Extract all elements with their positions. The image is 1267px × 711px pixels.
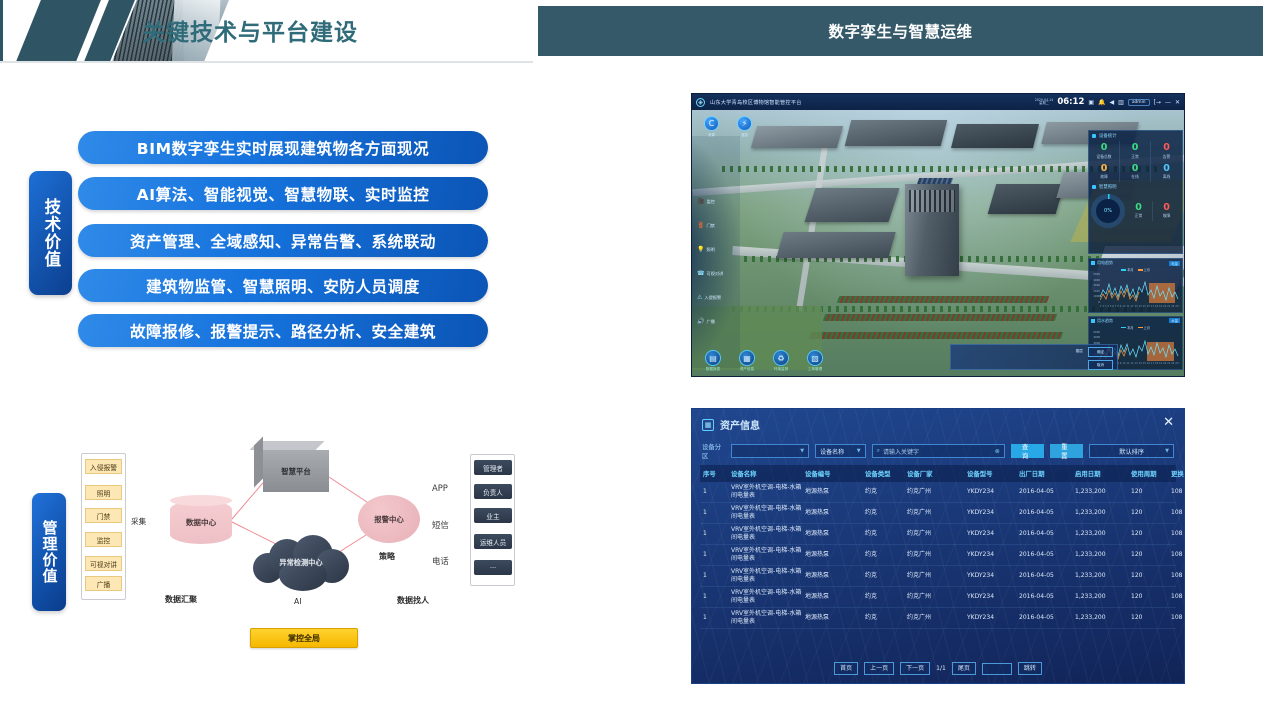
bulb-icon: 💡 xyxy=(697,246,704,253)
bottom-button-ticket-label: 工单管理 xyxy=(806,367,824,372)
source-chip-intrusion-alarm[interactable]: 入侵报警 xyxy=(85,459,122,474)
section-marker-icon xyxy=(1091,261,1095,265)
target-chip-3-label: 业主 xyxy=(486,511,499,521)
device-stats-panel: 设备统计 0 设备总数 0 正常 0 告警 xyxy=(1088,130,1183,254)
y-tick: 4000 xyxy=(1090,279,1100,282)
quick-toggle-panorama[interactable]: C 全景 xyxy=(704,116,719,137)
table-row[interactable]: 1VRV室外机空调-电梯-水箱间电量表地源热泵约克约克广州YKDY2342016… xyxy=(700,503,1176,524)
table-cell: VRV室外机空调-电梯-水箱间电量表 xyxy=(728,566,802,586)
stat-device-total-label: 设备总数 xyxy=(1089,154,1119,160)
campus-3d-scene[interactable]: C 全景 ⚡ 漫游 🎥 监控 🚪 门禁 💡 xyxy=(692,110,1185,377)
legend-entry-current-month: 本月 xyxy=(1121,325,1133,330)
source-chip-5-label: 可视对讲 xyxy=(90,559,117,569)
titlebar-right-group: 2020-04-14 星期二 06:12 ▣ 🔔 ◀ ▥ admin [→ — … xyxy=(1035,97,1184,107)
table-cell: YKDY234 xyxy=(964,524,1016,544)
target-chip-manager[interactable]: 负责人 xyxy=(474,484,512,499)
device-stats-grid-row1: 0 设备总数 0 正常 0 告警 xyxy=(1089,141,1182,162)
target-chip-owner[interactable]: 业主 xyxy=(474,508,512,523)
scene-building-6 xyxy=(988,184,1065,214)
node-smart-platform-label: 智慧平台 xyxy=(281,466,311,477)
sort-select-value: 默认排序 xyxy=(1119,447,1144,456)
table-cell: 1 xyxy=(700,503,728,523)
sort-select[interactable]: 默认排序 ▼ xyxy=(1089,444,1174,458)
scene-building-2 xyxy=(845,120,947,146)
y-tick: 5000 xyxy=(1090,273,1100,276)
ticket-icon: ▧ xyxy=(807,350,823,366)
table-cell: 地源热泵 xyxy=(802,482,862,502)
asset-search-input[interactable]: ⌕ 请输入关键字 ⊗ xyxy=(872,444,1005,458)
table-cell: 约克广州 xyxy=(904,524,964,544)
mgmt-value-badge-label: 管理价值 xyxy=(41,520,58,584)
stat-lighting-normal-label: 正常 xyxy=(1125,213,1152,219)
intercom-icon: ☎ xyxy=(697,270,704,277)
scene-road-vertical xyxy=(796,133,830,312)
label-data-push: 数据找人 xyxy=(397,595,429,606)
electricity-chart-title: 用电趋势 xyxy=(1097,260,1113,266)
table-cell: 1 xyxy=(700,608,728,628)
table-cell: 1 xyxy=(700,545,728,565)
table-cell: 约克 xyxy=(862,503,904,523)
water-chart-title: 用水趋势 xyxy=(1097,318,1113,324)
stat-online-value: 0 xyxy=(1120,164,1150,174)
asset-table-header: 序号 设备名称 设备编号 设备类型 设备厂家 设备型号 出厂日期 启用日期 使用… xyxy=(700,465,1176,482)
tech-value-item-2-label: AI算法、智能视觉、智慧物联、实时监控 xyxy=(137,183,430,205)
table-cell: 约克广州 xyxy=(904,503,964,523)
electricity-chart-tag[interactable]: 电量 xyxy=(1169,261,1180,266)
chevron-down-icon: ▼ xyxy=(800,448,804,454)
bottom-button-asset[interactable]: ▦ 资产信息 xyxy=(738,350,756,372)
target-chip-5-label: ··· xyxy=(490,564,496,572)
electricity-chart-y-axis: 5000 4000 3000 2000 1000 0 xyxy=(1090,273,1100,304)
control-everything-button[interactable]: 掌控全局 xyxy=(250,628,358,648)
device-stats-header: 设备统计 xyxy=(1089,131,1182,141)
stat-lighting-fault-label: 故障 xyxy=(1153,213,1180,219)
node-smart-platform: 智慧平台 xyxy=(263,450,329,492)
roam-icon: ⚡ xyxy=(737,116,752,131)
bottom-button-ticket[interactable]: ▧ 工单管理 xyxy=(806,350,824,372)
stat-lighting-fault-value: 0 xyxy=(1153,203,1180,213)
y-tick: 2000 xyxy=(1090,290,1100,293)
table-cell: 约克广州 xyxy=(904,608,964,628)
table-cell: VRV室外机空调-电梯-水箱间电量表 xyxy=(728,608,802,628)
device-stats-title: 设备统计 xyxy=(1099,133,1117,139)
table-cell: 地源热泵 xyxy=(802,524,862,544)
table-cell: 108 xyxy=(1168,503,1185,523)
nav-item-access-control-label: 门禁 xyxy=(706,223,714,229)
scene-hedge-3 xyxy=(809,332,1064,339)
video-icon: 🎥 xyxy=(697,198,704,205)
nav-item-video-intercom-label: 可视对讲 xyxy=(706,271,723,277)
quick-toggle-roam[interactable]: ⚡ 漫游 xyxy=(737,116,752,137)
nav-item-intrusion-alarm[interactable]: ⚠ 入侵报警 xyxy=(697,292,739,303)
lighting-usage-gauge: 0% xyxy=(1091,194,1125,228)
legend-label-last-month: 上月 xyxy=(1144,326,1150,330)
column-header-production-date: 出厂日期 xyxy=(1016,465,1072,482)
pager-jump-button[interactable]: 跳转 xyxy=(1018,662,1042,675)
scene-building-5 xyxy=(804,188,899,222)
node-anomaly-detection: 异常检测中心 xyxy=(253,535,349,591)
tech-value-badge: 技术价值 xyxy=(29,171,72,295)
nav-item-intrusion-alarm-label: 入侵报警 xyxy=(704,295,721,301)
label-collect: 采集 xyxy=(131,516,146,527)
label-channel-app: APP xyxy=(432,483,448,493)
electricity-trend-chart: 用电趋势 电量 本月 上月 5000 4000 3000 2000 1000 0 xyxy=(1088,258,1183,313)
nav-item-broadcast[interactable]: 🔊 广播 xyxy=(697,316,739,327)
stat-lighting-normal: 0 正常 xyxy=(1125,201,1153,222)
panorama-icon: C xyxy=(704,116,719,131)
legend-label-last-month: 上月 xyxy=(1144,268,1150,272)
query-button[interactable]: 查询 xyxy=(1011,444,1044,458)
floor-dialog-row2: 取消 xyxy=(951,358,1117,371)
table-row[interactable]: 1VRV室外机空调-电梯-水箱间电量表地源热泵约克约克广州YKDY2342016… xyxy=(700,482,1176,503)
table-cell: 1,233,200 xyxy=(1072,566,1128,586)
table-cell: 约克广州 xyxy=(904,587,964,607)
table-cell: YKDY234 xyxy=(964,608,1016,628)
table-cell: 约克广州 xyxy=(904,566,964,586)
dashboard-date: 2020-04-14 星期二 xyxy=(1035,99,1054,106)
source-chip-lighting[interactable]: 照明 xyxy=(85,485,122,500)
table-cell: 108 xyxy=(1168,545,1185,565)
table-cell: 地源热泵 xyxy=(802,608,862,628)
column-header-replacement-cycle: 更换周期 xyxy=(1168,465,1185,482)
legend-entry-last-month: 上月 xyxy=(1138,325,1150,330)
volume-icon[interactable]: ◀ xyxy=(1110,99,1115,106)
table-row[interactable]: 1VRV室外机空调-电梯-水箱间电量表地源热泵约克约克广州YKDY2342016… xyxy=(700,566,1176,587)
source-chip-broadcast[interactable]: 广播 xyxy=(85,576,122,591)
column-header-manufacturer: 设备厂家 xyxy=(904,465,964,482)
stat-normal-label: 正常 xyxy=(1120,154,1150,160)
dashboard-bottom-toolbar: ▤ 数据报表 ▦ 资产信息 ♻ 环境监测 ▧ 工单管理 xyxy=(704,350,824,372)
table-cell: 约克 xyxy=(862,482,904,502)
mgmt-value-badge: 管理价值 xyxy=(32,493,66,611)
section-marker-icon xyxy=(1091,319,1095,323)
stat-offline: 0 离线 xyxy=(1151,162,1182,183)
table-cell: VRV室外机空调-电梯-水箱间电量表 xyxy=(728,545,802,565)
table-cell: VRV室外机空调-电梯-水箱间电量表 xyxy=(728,524,802,544)
label-strategy: 策略 xyxy=(379,551,395,562)
node-alarm-center-label: 报警中心 xyxy=(374,514,404,525)
asset-window-title: 资产信息 xyxy=(720,417,760,432)
node-data-center: 数据中心 xyxy=(170,500,232,544)
source-chip-3-label: 门禁 xyxy=(97,511,111,521)
control-everything-label: 掌控全局 xyxy=(288,633,320,644)
node-data-center-label: 数据中心 xyxy=(186,517,216,528)
device-name-select-value: 设备名称 xyxy=(820,447,844,456)
user-badge[interactable]: admin xyxy=(1128,99,1150,106)
device-name-select[interactable]: 设备名称 ▼ xyxy=(815,444,865,458)
stat-offline-value: 0 xyxy=(1151,164,1182,174)
section-marker-icon xyxy=(1092,185,1096,189)
tech-value-badge-label: 技术价值 xyxy=(41,198,60,268)
asset-window-header: ▦ 资产信息 xyxy=(702,417,760,432)
table-cell: 108 xyxy=(1168,566,1185,586)
stat-lighting-fault: 0 故障 xyxy=(1153,201,1180,222)
table-cell: 地源热泵 xyxy=(802,566,862,586)
smart-lighting-header: 智慧照明 xyxy=(1089,182,1182,192)
table-cell: 2016-04-05 xyxy=(1016,608,1072,628)
y-tick: 0 xyxy=(1090,301,1100,304)
label-channel-phone: 电话 xyxy=(432,555,449,567)
stat-alarm-value: 0 xyxy=(1151,143,1182,153)
header-right-band: 数字孪生与智慧运维 xyxy=(538,6,1263,56)
table-cell: VRV室外机空调-电梯-水箱间电量表 xyxy=(728,587,802,607)
table-cell: 108 xyxy=(1168,524,1185,544)
y-tick: 5000 xyxy=(1090,331,1100,334)
device-stats-grid-row2: 0 故障 0 在线 0 离线 xyxy=(1089,162,1182,183)
floor-dialog-label: 楼层 xyxy=(1076,349,1083,354)
scene-building-3 xyxy=(951,124,1039,148)
zone-select[interactable]: ▼ xyxy=(731,444,810,458)
table-cell: VRV室外机空调-电梯-水箱间电量表 xyxy=(728,482,802,502)
close-icon[interactable]: ✕ xyxy=(1175,99,1180,106)
target-chip-ops-staff[interactable]: 运维人员 xyxy=(474,534,512,549)
table-cell: 约克 xyxy=(862,587,904,607)
door-icon: 🚪 xyxy=(697,222,704,229)
table-cell: 1 xyxy=(700,587,728,607)
header-divider xyxy=(0,61,533,63)
table-cell: 120 xyxy=(1128,608,1168,628)
target-chip-administrator[interactable]: 管理者 xyxy=(474,460,512,475)
table-cell: 1,233,200 xyxy=(1072,545,1128,565)
stat-device-total: 0 设备总数 xyxy=(1089,141,1120,162)
table-cell: VRV室外机空调-电梯-水箱间电量表 xyxy=(728,503,802,523)
asset-search-placeholder: 请输入关键字 xyxy=(883,447,919,456)
target-chip-4-label: 运维人员 xyxy=(480,537,506,547)
alarm-icon: ⚠ xyxy=(697,294,702,301)
bottom-button-environment[interactable]: ♻ 环境监测 xyxy=(772,350,790,372)
table-row[interactable]: 1VRV室外机空调-电梯-水箱间电量表地源热泵约克约克广州YKDY2342016… xyxy=(700,524,1176,545)
asset-icon: ▦ xyxy=(702,419,714,431)
tech-value-item-4-label: 建筑物监管、智慧照明、安防人员调度 xyxy=(146,275,420,297)
source-chip-2-label: 照明 xyxy=(97,488,111,498)
tech-value-item-3[interactable]: 资产管理、全域感知、异常告警、系统联动 xyxy=(78,224,488,257)
column-header-device-code: 设备编号 xyxy=(802,465,862,482)
table-cell: YKDY234 xyxy=(964,482,1016,502)
lighting-usage-gauge-value: 0% xyxy=(1104,208,1112,214)
column-header-device-name: 设备名称 xyxy=(728,465,802,482)
chevron-down-icon: ▼ xyxy=(1165,448,1169,454)
tech-value-item-1-label: BIM数字孪生实时展现建筑物各方面现况 xyxy=(137,137,429,159)
app-logo-icon: ◈ xyxy=(696,98,705,107)
nav-item-surveillance[interactable]: 🎥 监控 xyxy=(697,196,739,207)
stat-offline-label: 离线 xyxy=(1151,174,1182,180)
slide-root: 关键技术与平台建设 数字孪生与智慧运维 技术价值 BIM数字孪生实时展现建筑物各… xyxy=(0,0,1267,711)
table-cell: 120 xyxy=(1128,545,1168,565)
column-header-device-type: 设备类型 xyxy=(862,465,904,482)
chevron-down-icon: ▼ xyxy=(857,448,861,454)
dashboard-date-line2: 星期二 xyxy=(1035,102,1054,105)
y-tick: 4000 xyxy=(1090,336,1100,339)
bottom-button-asset-label: 资产信息 xyxy=(738,367,756,372)
label-ai: AI xyxy=(294,597,301,606)
table-cell: 地源热泵 xyxy=(802,503,862,523)
speaker-icon: 🔊 xyxy=(697,318,704,325)
target-chip-more[interactable]: ··· xyxy=(474,560,512,575)
nav-item-lighting-label: 照明 xyxy=(706,247,714,253)
scene-museum-tower xyxy=(905,184,959,276)
source-chip-surveillance[interactable]: 监控 xyxy=(85,532,122,547)
table-cell: YKDY234 xyxy=(964,545,1016,565)
env-icon: ♻ xyxy=(773,350,789,366)
source-chip-4-label: 监控 xyxy=(97,535,111,545)
tech-value-item-1[interactable]: BIM数字孪生实时展现建筑物各方面现况 xyxy=(78,131,488,164)
electricity-chart-legend: 本月 上月 xyxy=(1089,267,1182,272)
table-row[interactable]: 1VRV室外机空调-电梯-水箱间电量表地源热泵约克约克广州YKDY2342016… xyxy=(700,587,1176,608)
source-chip-access-control[interactable]: 门禁 xyxy=(85,508,122,523)
legend-entry-last-month: 上月 xyxy=(1138,267,1150,272)
target-chip-2-label: 负责人 xyxy=(483,487,503,497)
asset-filter-bar: 设备分区 ▼ 设备名称 ▼ ⌕ 请输入关键字 ⊗ 查询 重置 默认排序 ▼ xyxy=(702,442,1174,460)
label-data-aggregate: 数据汇聚 xyxy=(165,594,197,605)
asset-info-window: ▦ 资产信息 ✕ 设备分区 ▼ 设备名称 ▼ ⌕ 请输入关键字 ⊗ 查询 重置 … xyxy=(691,408,1185,684)
pager-first-button[interactable]: 首页 xyxy=(834,662,858,675)
label-channel-sms: 短信 xyxy=(432,519,449,531)
nav-item-broadcast-label: 广播 xyxy=(706,319,714,325)
nav-item-video-intercom[interactable]: ☎ 可视对讲 xyxy=(697,268,739,279)
stat-alarm-label: 告警 xyxy=(1151,154,1182,160)
source-chip-1-label: 入侵报警 xyxy=(90,462,117,472)
table-cell: 约克 xyxy=(862,545,904,565)
nav-item-access-control[interactable]: 🚪 门禁 xyxy=(697,220,739,231)
clear-input-icon[interactable]: ⊗ xyxy=(995,448,1000,455)
bell-icon[interactable]: 🔔 xyxy=(1098,99,1105,106)
table-cell: YKDY234 xyxy=(964,503,1016,523)
table-cell: 1,233,200 xyxy=(1072,503,1128,523)
report-icon: ▤ xyxy=(705,350,721,366)
electricity-chart-plot xyxy=(1100,275,1180,305)
tech-value-item-2[interactable]: AI算法、智能视觉、智慧物联、实时监控 xyxy=(78,177,488,210)
asset-pagination: 首页 上一页 下一页 1/1 尾页 跳转 xyxy=(692,662,1184,675)
floor-dialog-row1: 楼层 确定 xyxy=(951,345,1117,358)
scene-floor-dialog: 楼层 确定 取消 xyxy=(950,344,1118,370)
table-cell: 120 xyxy=(1128,587,1168,607)
table-cell: 108 xyxy=(1168,482,1185,502)
table-cell: 1,233,200 xyxy=(1072,587,1128,607)
table-cell: 120 xyxy=(1128,566,1168,586)
column-header-activation-date: 启用日期 xyxy=(1072,465,1128,482)
water-chart-header: 用水趋势 水量 xyxy=(1089,317,1182,325)
table-row[interactable]: 1VRV室外机空调-电梯-水箱间电量表地源热泵约克约克广州YKDY2342016… xyxy=(700,545,1176,566)
pager-prev-button[interactable]: 上一页 xyxy=(864,662,894,675)
node-anomaly-detection-label: 异常检测中心 xyxy=(279,558,322,568)
table-cell: 2016-04-05 xyxy=(1016,566,1072,586)
table-row[interactable]: 1VRV室外机空调-电梯-水箱间电量表地源热泵约克约克广州YKDY2342016… xyxy=(700,608,1176,629)
stat-fault-label: 故障 xyxy=(1089,174,1119,180)
bottom-button-environment-label: 环境监测 xyxy=(772,367,790,372)
table-cell: 约克广州 xyxy=(904,482,964,502)
table-cell: 约克广州 xyxy=(904,545,964,565)
smart-lighting-title: 智慧照明 xyxy=(1099,184,1117,190)
table-cell: 地源热泵 xyxy=(802,545,862,565)
zone-filter-label: 设备分区 xyxy=(702,442,725,460)
tech-value-item-5-label: 故障报修、报警提示、路径分析、安全建筑 xyxy=(130,320,436,342)
section-marker-icon xyxy=(1092,134,1096,138)
column-header-model: 设备型号 xyxy=(964,465,1016,482)
column-header-index: 序号 xyxy=(700,465,728,482)
source-chip-video-intercom[interactable]: 可视对讲 xyxy=(85,556,122,571)
logout-icon[interactable]: [→ xyxy=(1154,99,1161,106)
stat-fault-value: 0 xyxy=(1089,164,1119,174)
tech-value-item-3-label: 资产管理、全域感知、异常告警、系统联动 xyxy=(130,230,436,252)
asset-table-body: 1VRV室外机空调-电梯-水箱间电量表地源热泵约克约克广州YKDY2342016… xyxy=(700,482,1176,629)
water-chart-tag[interactable]: 水量 xyxy=(1169,318,1180,323)
table-cell: 1,233,200 xyxy=(1072,524,1128,544)
stat-device-total-value: 0 xyxy=(1089,143,1119,153)
table-cell: YKDY234 xyxy=(964,587,1016,607)
dashboard-window-title: 山东大学青岛校区博物馆智能管控平台 xyxy=(710,99,802,106)
table-cell: 2016-04-05 xyxy=(1016,482,1072,502)
stat-lighting-normal-value: 0 xyxy=(1125,203,1152,213)
floor-dialog-cancel-button[interactable]: 取消 xyxy=(1088,360,1113,370)
table-cell: 约克 xyxy=(862,566,904,586)
electricity-chart-x-axis: 1 2 3 4 5 6 7 8 9 10 11 12 13 14 15 16 1… xyxy=(1100,304,1180,312)
table-cell: 1,233,200 xyxy=(1072,608,1128,628)
reset-button[interactable]: 重置 xyxy=(1050,444,1083,458)
stat-online: 0 在线 xyxy=(1120,162,1151,183)
scene-building-8 xyxy=(776,232,895,258)
electricity-chart-header: 用电趋势 电量 xyxy=(1089,259,1182,267)
table-cell: 108 xyxy=(1168,587,1185,607)
stat-fault: 0 故障 xyxy=(1089,162,1120,183)
tech-value-item-4[interactable]: 建筑物监管、智慧照明、安防人员调度 xyxy=(78,269,488,302)
table-cell: 2016-04-05 xyxy=(1016,524,1072,544)
table-cell: 120 xyxy=(1128,482,1168,502)
bottom-button-report[interactable]: ▤ 数据报表 xyxy=(704,350,722,372)
close-icon[interactable]: ✕ xyxy=(1163,415,1174,430)
tech-value-item-5[interactable]: 故障报修、报警提示、路径分析、安全建筑 xyxy=(78,314,488,347)
table-cell: 108 xyxy=(1168,608,1185,628)
asset-table: 序号 设备名称 设备编号 设备类型 设备厂家 设备型号 出厂日期 启用日期 使用… xyxy=(700,465,1176,629)
table-cell: 2016-04-05 xyxy=(1016,545,1072,565)
y-tick: 3000 xyxy=(1090,284,1100,287)
table-cell: 约克 xyxy=(862,524,904,544)
header-left-accent-rule xyxy=(0,0,3,63)
table-cell: 120 xyxy=(1128,503,1168,523)
stat-online-label: 在线 xyxy=(1120,174,1150,180)
table-cell: 2016-04-05 xyxy=(1016,503,1072,523)
dashboard-titlebar: ◈ 山东大学青岛校区博物馆智能管控平台 2020-04-14 星期二 06:12… xyxy=(692,94,1184,110)
table-cell: 地源热泵 xyxy=(802,587,862,607)
page-title: 关键技术与平台建设 xyxy=(142,13,358,47)
table-cell: 1 xyxy=(700,482,728,502)
pager-last-button[interactable]: 尾页 xyxy=(952,662,976,675)
pager-next-button[interactable]: 下一页 xyxy=(900,662,930,675)
chart-icon[interactable]: ▥ xyxy=(1118,99,1124,106)
asset-icon: ▦ xyxy=(739,350,755,366)
node-alarm-center: 报警中心 xyxy=(358,495,420,543)
table-cell: 120 xyxy=(1128,524,1168,544)
search-icon: ⌕ xyxy=(877,447,880,455)
legend-label-current-month: 本月 xyxy=(1127,268,1133,272)
screen-icon[interactable]: ▣ xyxy=(1088,99,1094,106)
table-cell: YKDY234 xyxy=(964,566,1016,586)
table-cell: 2016-04-05 xyxy=(1016,587,1072,607)
scene-building-1 xyxy=(751,126,843,148)
pager-jump-input[interactable] xyxy=(982,663,1012,675)
nav-item-lighting[interactable]: 💡 照明 xyxy=(697,244,739,255)
scene-hedge-1 xyxy=(837,296,1050,303)
target-chip-1-label: 管理者 xyxy=(483,463,503,473)
digital-twin-dashboard: ◈ 山东大学青岛校区博物馆智能管控平台 2020-04-14 星期二 06:12… xyxy=(691,93,1185,377)
scene-quick-toggles: C 全景 ⚡ 漫游 xyxy=(704,116,752,137)
floor-dialog-confirm-button[interactable]: 确定 xyxy=(1088,347,1113,357)
legend-entry-current-month: 本月 xyxy=(1121,267,1133,272)
dashboard-clock: 06:12 xyxy=(1057,97,1084,107)
section-title: 数字孪生与智慧运维 xyxy=(828,20,972,42)
minimize-icon[interactable]: — xyxy=(1165,99,1171,106)
table-cell: 1 xyxy=(700,566,728,586)
legend-label-current-month: 本月 xyxy=(1127,326,1133,330)
